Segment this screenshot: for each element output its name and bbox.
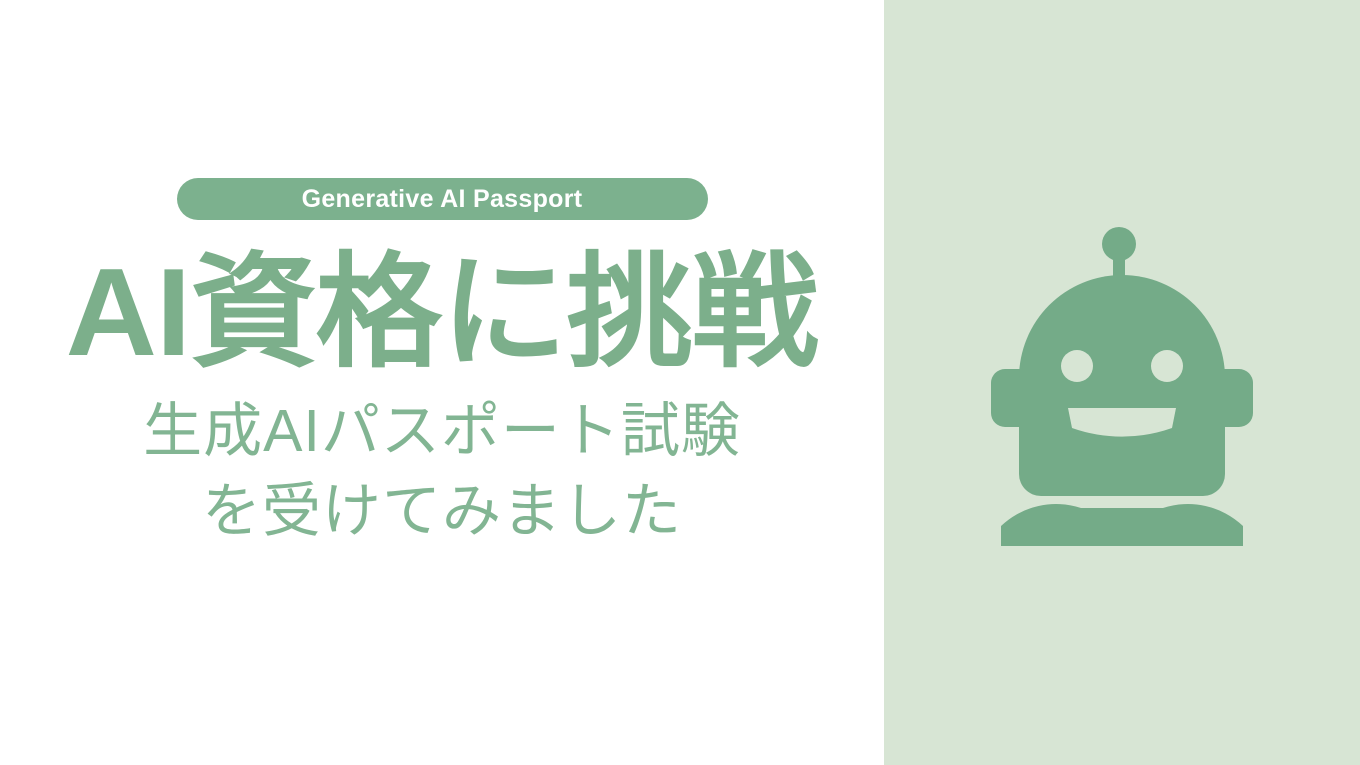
robot-icon xyxy=(989,218,1255,548)
text-panel: Generative AI Passport AI資格に挑戦 生成AIパスポート… xyxy=(0,0,884,765)
subtitle-line-1: 生成AIパスポート試験 xyxy=(143,391,741,471)
robot-right-eye-icon xyxy=(1151,350,1183,382)
robot-body-base-icon xyxy=(1001,504,1243,546)
subtitle: 生成AIパスポート試験 を受けてみました xyxy=(143,391,741,551)
robot-head-icon xyxy=(1019,275,1225,496)
illustration-panel xyxy=(884,0,1360,765)
text-stack: Generative AI Passport AI資格に挑戦 生成AIパスポート… xyxy=(0,0,884,765)
subtitle-line-2: を受けてみました xyxy=(143,471,741,551)
robot-left-eye-icon xyxy=(1061,350,1093,382)
category-badge: Generative AI Passport xyxy=(177,178,708,220)
page-title: AI資格に挑戦 xyxy=(66,250,818,376)
eyecatch-card: Generative AI Passport AI資格に挑戦 生成AIパスポート… xyxy=(0,0,1360,765)
